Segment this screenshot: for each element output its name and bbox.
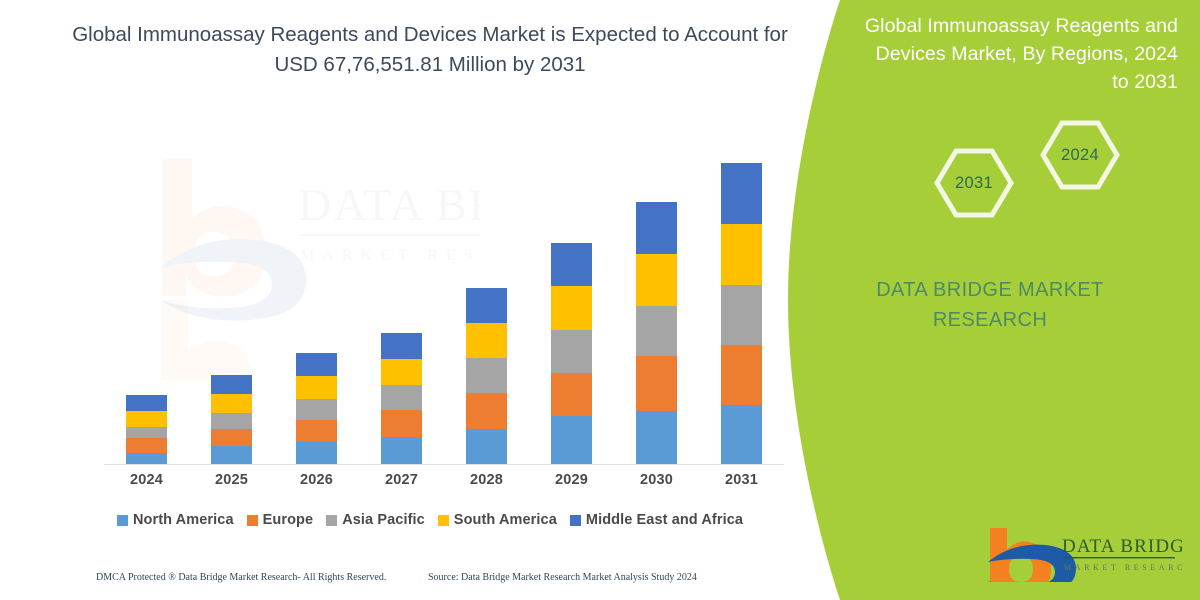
infographic-canvas: Global Immunoassay Reagents and Devices … bbox=[0, 0, 1200, 600]
bar-segment bbox=[126, 411, 167, 427]
legend-swatch-icon bbox=[247, 515, 258, 526]
bar-segment bbox=[381, 410, 422, 437]
bar-column-2030 bbox=[614, 202, 699, 464]
footer-copyright: DMCA Protected ® Data Bridge Market Rese… bbox=[96, 572, 386, 583]
x-axis-label-2031: 2031 bbox=[699, 472, 784, 496]
bar-segment bbox=[126, 453, 167, 464]
bar-segment bbox=[721, 345, 762, 405]
panel-brand-line2: RESEARCH bbox=[780, 305, 1200, 335]
legend-item[interactable]: Middle East and Africa bbox=[570, 512, 743, 528]
bar-column-2031 bbox=[699, 163, 784, 464]
data-bridge-logo-icon: DATA BRIDGE MARKET RESEARCH bbox=[984, 526, 1182, 582]
bar-segment bbox=[551, 373, 592, 416]
legend-label: South America bbox=[454, 512, 557, 528]
hexagon-badges: 2024 2031 bbox=[932, 118, 1122, 223]
bar-segment bbox=[466, 429, 507, 464]
bar-column-2029 bbox=[529, 243, 614, 464]
bar-segment bbox=[381, 359, 422, 385]
bar-segment bbox=[551, 243, 592, 286]
x-axis-tick-labels: 20242025202620272028202920302031 bbox=[104, 472, 784, 496]
bar-segment bbox=[211, 446, 252, 464]
x-axis-line bbox=[104, 464, 784, 465]
x-axis-label-2026: 2026 bbox=[274, 472, 359, 496]
bar-segment bbox=[296, 353, 337, 376]
bar-segment bbox=[381, 385, 422, 410]
stacked-bar bbox=[721, 163, 762, 464]
x-axis-label-2029: 2029 bbox=[529, 472, 614, 496]
stacked-bar bbox=[211, 375, 252, 464]
bar-segment bbox=[636, 356, 677, 411]
bar-segment bbox=[466, 393, 507, 429]
hexagon-badge-2031-label: 2031 bbox=[955, 174, 993, 193]
svg-text:MARKET RESEARCH: MARKET RESEARCH bbox=[1064, 563, 1182, 572]
bar-segment bbox=[551, 330, 592, 373]
bar-column-2027 bbox=[359, 333, 444, 464]
bar-segment bbox=[381, 437, 422, 464]
legend-item[interactable]: South America bbox=[438, 512, 557, 528]
bar-segment bbox=[551, 416, 592, 464]
bar-segment bbox=[126, 438, 167, 453]
bar-segment bbox=[211, 394, 252, 413]
stacked-bar bbox=[296, 353, 337, 464]
legend-swatch-icon bbox=[570, 515, 581, 526]
bar-segment bbox=[466, 323, 507, 358]
hexagon-badge-2024: 2024 bbox=[1038, 118, 1122, 192]
bar-segment bbox=[466, 288, 507, 323]
chart-legend: North AmericaEuropeAsia PacificSouth Ame… bbox=[60, 512, 800, 528]
bar-segment bbox=[211, 375, 252, 394]
stacked-bar bbox=[551, 243, 592, 464]
bar-segment bbox=[211, 429, 252, 446]
stacked-bar bbox=[381, 333, 422, 464]
bar-segment bbox=[296, 399, 337, 420]
panel-brand-line1: DATA BRIDGE MARKET bbox=[780, 275, 1200, 305]
stacked-bar bbox=[466, 288, 507, 464]
footer-bar: DMCA Protected ® Data Bridge Market Rese… bbox=[0, 566, 800, 588]
x-axis-label-2025: 2025 bbox=[189, 472, 274, 496]
bar-segment bbox=[636, 306, 677, 356]
x-axis-label-2027: 2027 bbox=[359, 472, 444, 496]
bar-segment bbox=[126, 427, 167, 438]
bar-segment bbox=[721, 405, 762, 464]
bar-segment bbox=[381, 333, 422, 359]
hexagon-badge-2031: 2031 bbox=[932, 146, 1016, 220]
stacked-bar bbox=[126, 395, 167, 464]
footer-source: Source: Data Bridge Market Research Mark… bbox=[428, 572, 697, 583]
stacked-bar-group bbox=[104, 140, 784, 464]
panel-brand-text: DATA BRIDGE MARKET RESEARCH bbox=[780, 275, 1200, 335]
x-axis-label-2028: 2028 bbox=[444, 472, 529, 496]
legend-item[interactable]: North America bbox=[117, 512, 234, 528]
bar-segment bbox=[721, 163, 762, 224]
legend-swatch-icon bbox=[326, 515, 337, 526]
bar-segment bbox=[296, 376, 337, 399]
legend-item[interactable]: Asia Pacific bbox=[326, 512, 425, 528]
bar-column-2026 bbox=[274, 353, 359, 464]
hexagon-badge-2024-label: 2024 bbox=[1061, 146, 1099, 165]
bar-segment bbox=[466, 358, 507, 393]
legend-swatch-icon bbox=[438, 515, 449, 526]
bar-segment bbox=[721, 285, 762, 345]
legend-label: Middle East and Africa bbox=[586, 512, 743, 528]
svg-text:DATA BRIDGE: DATA BRIDGE bbox=[1062, 536, 1182, 557]
green-side-panel: Global Immunoassay Reagents and Devices … bbox=[780, 0, 1200, 600]
legend-swatch-icon bbox=[117, 515, 128, 526]
legend-label: North America bbox=[133, 512, 234, 528]
bar-segment bbox=[636, 254, 677, 306]
bar-segment bbox=[721, 224, 762, 285]
bar-segment bbox=[636, 202, 677, 254]
bar-segment bbox=[211, 413, 252, 429]
bar-segment bbox=[126, 395, 167, 411]
bar-column-2028 bbox=[444, 288, 529, 464]
page-title: Global Immunoassay Reagents and Devices … bbox=[60, 20, 800, 80]
bar-segment bbox=[551, 286, 592, 330]
bar-column-2025 bbox=[189, 375, 274, 464]
chart-plot-area bbox=[104, 140, 784, 465]
legend-label: Europe bbox=[263, 512, 314, 528]
panel-title: Global Immunoassay Reagents and Devices … bbox=[858, 12, 1178, 96]
bar-column-2024 bbox=[104, 395, 189, 464]
legend-item[interactable]: Europe bbox=[247, 512, 314, 528]
stacked-bar bbox=[636, 202, 677, 464]
x-axis-label-2030: 2030 bbox=[614, 472, 699, 496]
bar-segment bbox=[296, 420, 337, 442]
x-axis-label-2024: 2024 bbox=[104, 472, 189, 496]
bar-segment bbox=[636, 411, 677, 464]
bar-segment bbox=[296, 442, 337, 464]
brand-logo: DATA BRIDGE MARKET RESEARCH bbox=[984, 526, 1182, 582]
legend-label: Asia Pacific bbox=[342, 512, 425, 528]
